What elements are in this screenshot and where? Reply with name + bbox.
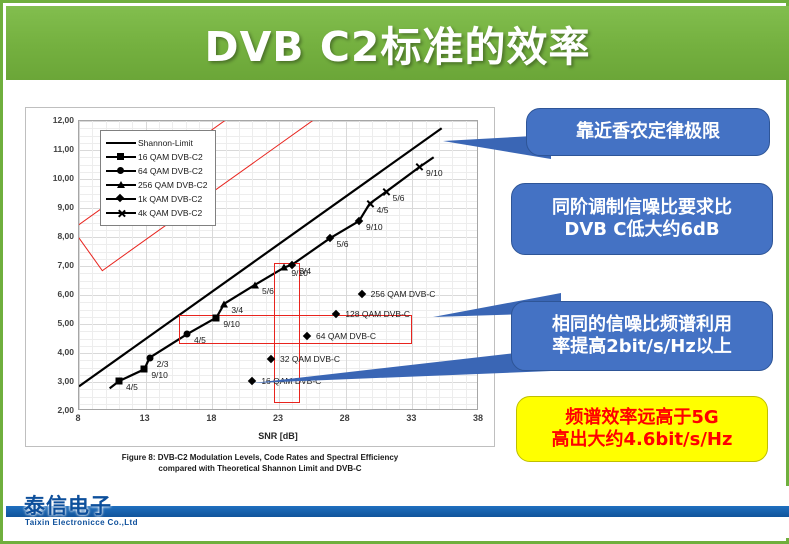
legend-item: 16 QAM DVB-C2	[106, 150, 207, 164]
code-rate-label: 3/4	[231, 305, 243, 315]
code-rate-label: 5/6	[337, 239, 349, 249]
slide: DVB C2标准的效率 Spectral Efficiency [Bit/s/H…	[0, 0, 789, 544]
code-rate-label: 3/4	[299, 266, 311, 276]
legend-label: 256 QAM DVB-C2	[136, 180, 207, 190]
y-tick-label: 4,00	[28, 347, 74, 357]
legend-key-tri-icon	[106, 179, 136, 191]
code-rate-label: 5/6	[393, 193, 405, 203]
logo-english: Taixin Electronicce Co.,Ltd	[25, 518, 138, 527]
data-point-marker	[365, 199, 374, 208]
callout-shannon-text: 靠近香农定律极限	[576, 121, 720, 143]
chart-panel: Spectral Efficiency [Bit/s/Hz] 4/59/109/…	[25, 107, 495, 447]
callout-shannon[interactable]: 靠近香农定律极限	[526, 108, 770, 156]
data-point-marker	[327, 235, 333, 241]
legend-item: 4k QAM DVB-C2	[106, 206, 207, 220]
dvbc-point-marker	[359, 291, 365, 297]
y-tick-label: 6,00	[28, 289, 74, 299]
legend-key-star-icon	[106, 207, 136, 219]
dvbc-point-label: 128 QAM DVB-C	[345, 309, 410, 319]
code-rate-label: 9/10	[151, 370, 168, 380]
code-rate-label: 9/10	[223, 319, 240, 329]
legend-item: 64 QAM DVB-C2	[106, 164, 207, 178]
x-tick-label: 13	[125, 413, 165, 423]
x-tick-label: 18	[191, 413, 231, 423]
dvbc-point-label: 256 QAM DVB-C	[371, 289, 436, 299]
callout-snr[interactable]: 同阶调制信噪比要求比 DVB C低大约6dB	[511, 183, 773, 255]
callout-5g[interactable]: 频谱效率远高于5G 高出大约4.6bit/s/Hz	[516, 396, 768, 462]
callout-spectral-text: 相同的信噪比频谱利用 率提高2bit/s/Hz以上	[552, 314, 732, 358]
legend-item: 1k QAM DVB-C2	[106, 192, 207, 206]
legend-key-none-icon	[106, 137, 136, 149]
code-rate-label: 4/5	[377, 205, 389, 215]
title-banner: DVB C2标准的效率	[6, 6, 789, 80]
callout-5g-line1: 频谱效率远高于5G	[565, 407, 718, 428]
data-point-marker	[116, 378, 123, 385]
dvbc-point-marker	[333, 311, 339, 317]
legend-key-circle-icon	[106, 165, 136, 177]
x-tick-label: 38	[458, 413, 498, 423]
dvbc-point-label: 64 QAM DVB-C	[316, 331, 376, 341]
legend-key-diam-icon	[106, 193, 136, 205]
legend-label: 16 QAM DVB-C2	[136, 152, 203, 162]
code-rate-label: 4/5	[126, 382, 138, 392]
legend-label: Shannon-Limit	[136, 138, 193, 148]
logo-bar: 泰信电子 Taixin Electronicce Co.,Ltd	[6, 486, 789, 538]
logo-stripe	[6, 506, 789, 517]
legend-item: 256 QAM DVB-C2	[106, 178, 207, 192]
code-rate-label: 2/3	[157, 359, 169, 369]
y-tick-label: 3,00	[28, 376, 74, 386]
x-axis-label: SNR [dB]	[78, 431, 478, 441]
legend-label: 64 QAM DVB-C2	[136, 166, 203, 176]
logo-chinese: 泰信电子	[24, 490, 112, 520]
y-tick-label: 5,00	[28, 318, 74, 328]
chart-legend: Shannon-Limit16 QAM DVB-C264 QAM DVB-C22…	[100, 130, 216, 226]
y-tick-label: 11,00	[28, 144, 74, 154]
data-point-marker	[289, 262, 295, 268]
data-point-marker	[220, 300, 228, 307]
dvbc-point-marker	[304, 333, 310, 339]
legend-label: 4k QAM DVB-C2	[136, 208, 202, 218]
legend-item: Shannon-Limit	[106, 136, 207, 150]
x-tick-label: 33	[391, 413, 431, 423]
figure-caption-line1: Figure 8: DVB-C2 Modulation Levels, Code…	[25, 453, 495, 464]
data-point-marker	[415, 163, 424, 172]
data-point-marker	[381, 188, 390, 197]
data-point-marker	[213, 314, 220, 321]
y-tick-label: 9,00	[28, 202, 74, 212]
data-point-marker	[146, 354, 153, 361]
y-tick-label: 8,00	[28, 231, 74, 241]
callout-spectral[interactable]: 相同的信噪比频谱利用 率提高2bit/s/Hz以上	[511, 301, 773, 371]
callout-spectral-line1: 相同的信噪比频谱利用	[552, 314, 732, 335]
page-title: DVB C2标准的效率	[205, 13, 591, 73]
x-tick-label: 23	[258, 413, 298, 423]
callout-snr-text: 同阶调制信噪比要求比 DVB C低大约6dB	[552, 197, 732, 241]
callout-spectral-tail	[253, 343, 553, 387]
code-rate-label: 9/10	[366, 222, 383, 232]
y-tick-label: 10,00	[28, 173, 74, 183]
x-tick-label: 8	[58, 413, 98, 423]
data-point-marker	[251, 281, 259, 288]
callout-spectral-line2: 率提高2bit/s/Hz以上	[552, 336, 732, 357]
callout-snr-line1: 同阶调制信噪比要求比	[552, 197, 732, 218]
callout-snr-line2: DVB C低大约6dB	[564, 219, 719, 240]
code-rate-label: 5/6	[262, 286, 274, 296]
legend-label: 1k QAM DVB-C2	[136, 194, 202, 204]
data-point-marker	[141, 366, 148, 373]
y-tick-label: 12,00	[28, 115, 74, 125]
data-point-marker	[184, 331, 191, 338]
figure-caption-line2: compared with Theoretical Shannon Limit …	[25, 464, 495, 475]
legend-key-square-icon	[106, 151, 136, 163]
callout-5g-text: 频谱效率远高于5G 高出大约4.6bit/s/Hz	[552, 407, 733, 451]
y-tick-label: 7,00	[28, 260, 74, 270]
x-tick-label: 28	[325, 413, 365, 423]
figure-caption: Figure 8: DVB-C2 Modulation Levels, Code…	[25, 453, 495, 475]
data-point-marker	[356, 218, 362, 224]
code-rate-label: 9/10	[426, 168, 443, 178]
callout-5g-line2: 高出大约4.6bit/s/Hz	[552, 429, 733, 450]
code-rate-label: 4/5	[194, 335, 206, 345]
